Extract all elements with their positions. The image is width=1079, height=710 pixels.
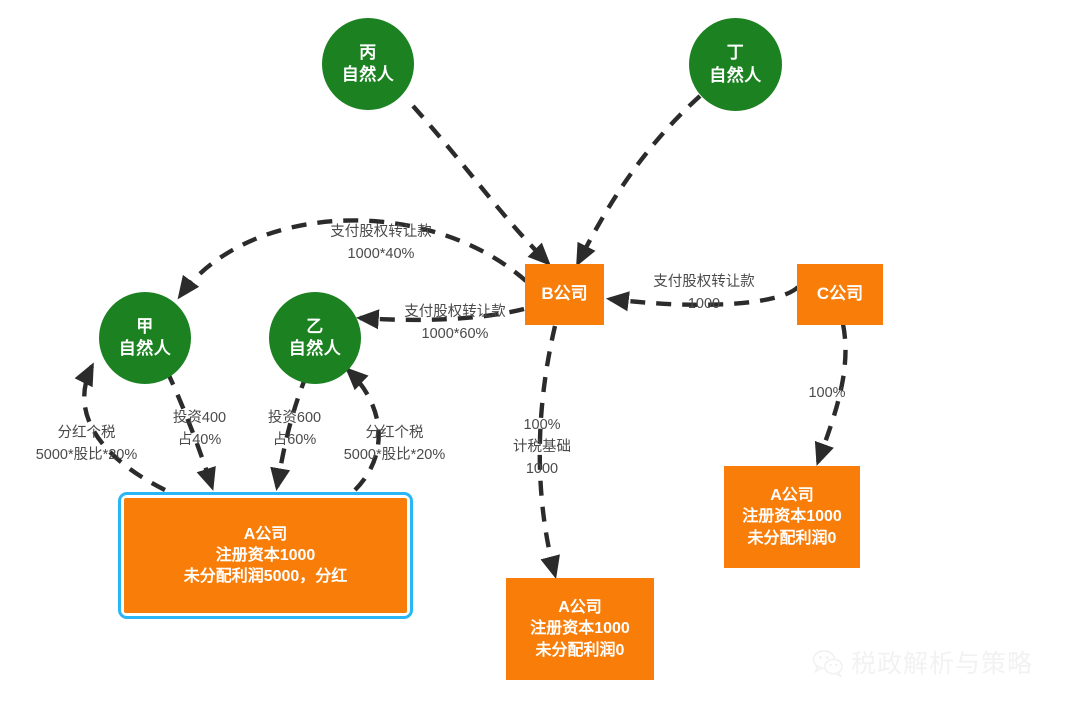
edge-label-dividend-tax-jia: 分红个税 5000*股比*20% <box>14 423 159 467</box>
node-company-a-main-line2: 注册资本1000 <box>216 545 316 566</box>
watermark: 税政解析与策略 <box>812 644 1033 680</box>
edge-label-dividend-tax-jia-line2: 5000*股比*20% <box>14 445 159 467</box>
node-company-a-bottom-line1: A公司 <box>558 597 602 618</box>
node-bing-label-line1: 丙 <box>359 42 377 64</box>
edge-label-invest-400-line1: 投资400 <box>152 408 247 430</box>
node-company-a-main-line1: A公司 <box>244 524 288 545</box>
watermark-text: 税政解析与策略 <box>851 644 1033 680</box>
diagram-canvas: 丙 自然人 丁 自然人 甲 自然人 乙 自然人 B公司 C公司 A公司 注册资本… <box>0 0 1079 710</box>
edge-label-pay-transfer-60: 支付股权转让款 1000*60% <box>390 302 520 346</box>
edge-label-pay-transfer-c: 支付股权转让款 1000 <box>639 272 769 316</box>
node-company-a-right-line3: 未分配利润0 <box>748 528 837 549</box>
node-ding-label-line2: 自然人 <box>709 65 762 87</box>
edge-label-dividend-tax-yi-line2: 5000*股比*20% <box>322 445 467 467</box>
edge-label-b-to-a-basis: 100% 计税基础 1000 <box>487 415 597 480</box>
node-company-a-main-line3: 未分配利润5000，分红 <box>184 566 348 587</box>
node-ding-label-line1: 丁 <box>727 42 745 64</box>
edge-label-pay-transfer-60-line1: 支付股权转让款 <box>390 302 520 324</box>
node-company-a-right-line2: 注册资本1000 <box>742 506 842 527</box>
edge-label-pay-transfer-60-line2: 1000*60% <box>390 324 520 346</box>
node-jia-natural-person[interactable]: 甲 自然人 <box>99 292 191 384</box>
node-yi-label-line1: 乙 <box>306 316 324 338</box>
node-company-a-right-line1: A公司 <box>770 485 814 506</box>
edge-label-pay-transfer-40-line1: 支付股权转让款 <box>291 222 471 244</box>
node-bing-label-line2: 自然人 <box>342 64 395 86</box>
edge-label-b-to-a-basis-line1: 100% <box>487 415 597 437</box>
edge-label-c-to-a-pct: 100% <box>792 383 862 405</box>
node-company-a-bottom-line2: 注册资本1000 <box>530 618 630 639</box>
edge-label-invest-400-line2: 占40% <box>152 430 247 452</box>
node-bing-natural-person[interactable]: 丙 自然人 <box>322 18 414 110</box>
edge-ding-to-company-b <box>578 96 700 263</box>
node-company-b-label: B公司 <box>541 283 587 305</box>
node-company-c-label: C公司 <box>817 283 863 305</box>
edge-label-dividend-tax-yi: 分红个税 5000*股比*20% <box>322 423 467 467</box>
edge-label-b-to-a-basis-line2: 计税基础 <box>487 437 597 459</box>
edge-label-pay-transfer-c-line2: 1000 <box>639 294 769 316</box>
node-yi-label-line2: 自然人 <box>289 338 342 360</box>
wechat-icon <box>812 649 842 675</box>
node-jia-label-line1: 甲 <box>136 316 154 338</box>
node-yi-natural-person[interactable]: 乙 自然人 <box>269 292 361 384</box>
edge-label-pay-transfer-40-line2: 1000*40% <box>291 244 471 266</box>
node-company-c[interactable]: C公司 <box>797 264 883 325</box>
node-company-a-right[interactable]: A公司 注册资本1000 未分配利润0 <box>724 466 860 568</box>
edge-label-b-to-a-basis-line3: 1000 <box>487 459 597 481</box>
edge-label-pay-transfer-40: 支付股权转让款 1000*40% <box>291 222 471 266</box>
edge-label-c-to-a-pct-line1: 100% <box>792 383 862 405</box>
edge-label-dividend-tax-yi-line1: 分红个税 <box>322 423 467 445</box>
node-company-a-main[interactable]: A公司 注册资本1000 未分配利润5000，分红 <box>118 492 413 619</box>
node-jia-label-line2: 自然人 <box>119 338 172 360</box>
edge-label-dividend-tax-jia-line1: 分红个税 <box>14 423 159 445</box>
edge-label-pay-transfer-c-line1: 支付股权转让款 <box>639 272 769 294</box>
edge-label-invest-400: 投资400 占40% <box>152 408 247 452</box>
node-company-a-bottom-line3: 未分配利润0 <box>536 640 625 661</box>
node-ding-natural-person[interactable]: 丁 自然人 <box>689 18 782 111</box>
node-company-b[interactable]: B公司 <box>525 264 604 325</box>
node-company-a-bottom[interactable]: A公司 注册资本1000 未分配利润0 <box>506 578 654 680</box>
